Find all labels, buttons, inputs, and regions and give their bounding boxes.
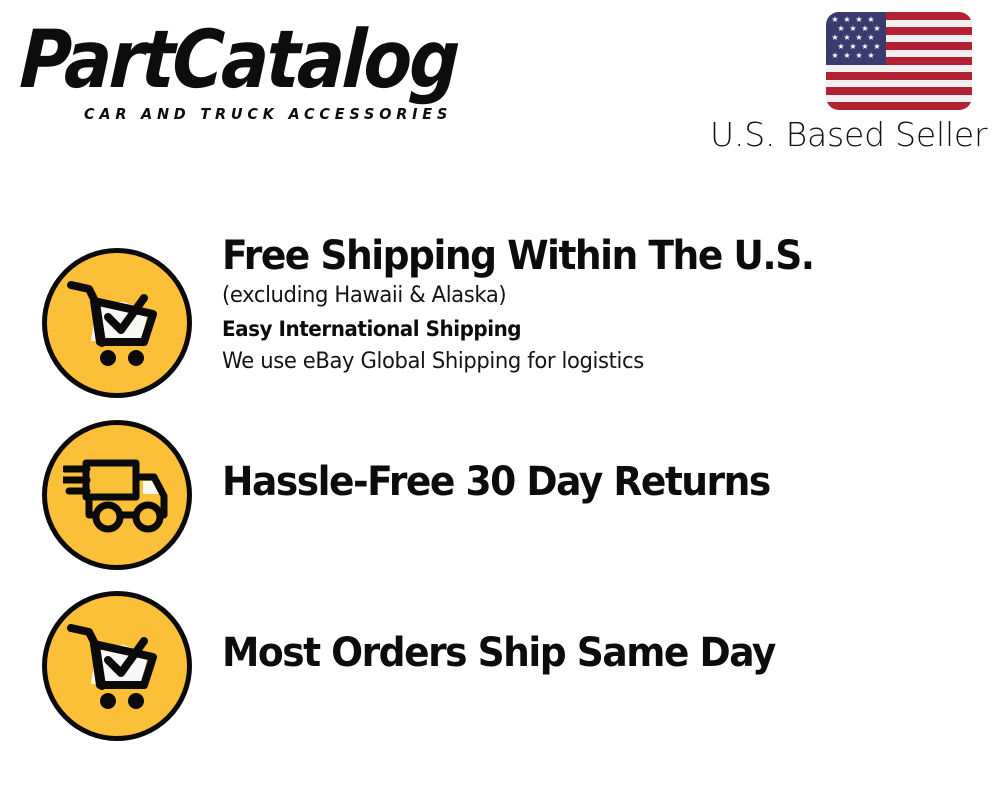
benefit-text-block: Free Shipping Within The U.S. (excluding…: [222, 232, 982, 378]
benefit-row: Free Shipping Within The U.S. (excluding…: [0, 248, 1000, 418]
benefit-row: Hassle-Free 30 Day Returns: [0, 420, 1000, 590]
delivery-truck-icon: [42, 420, 192, 570]
benefit-subnote: We use eBay Global Shipping for logistic…: [222, 346, 952, 378]
benefit-title: Hassle-Free 30 Day Returns: [222, 458, 936, 506]
benefit-title: Free Shipping Within The U.S.: [222, 232, 936, 280]
benefit-row: Most Orders Ship Same Day: [0, 591, 1000, 761]
shopping-cart-check-icon: [42, 248, 192, 398]
benefit-note: (excluding Hawaii & Alaska): [222, 280, 952, 312]
benefit-title: Most Orders Ship Same Day: [222, 629, 936, 677]
benefit-text-block: Most Orders Ship Same Day: [222, 629, 982, 677]
shopping-cart-check-icon: [42, 591, 192, 741]
benefit-subtitle: Easy International Shipping: [222, 312, 944, 346]
benefits-list: Free Shipping Within The U.S. (excluding…: [0, 0, 1000, 800]
benefit-text-block: Hassle-Free 30 Day Returns: [222, 458, 982, 506]
